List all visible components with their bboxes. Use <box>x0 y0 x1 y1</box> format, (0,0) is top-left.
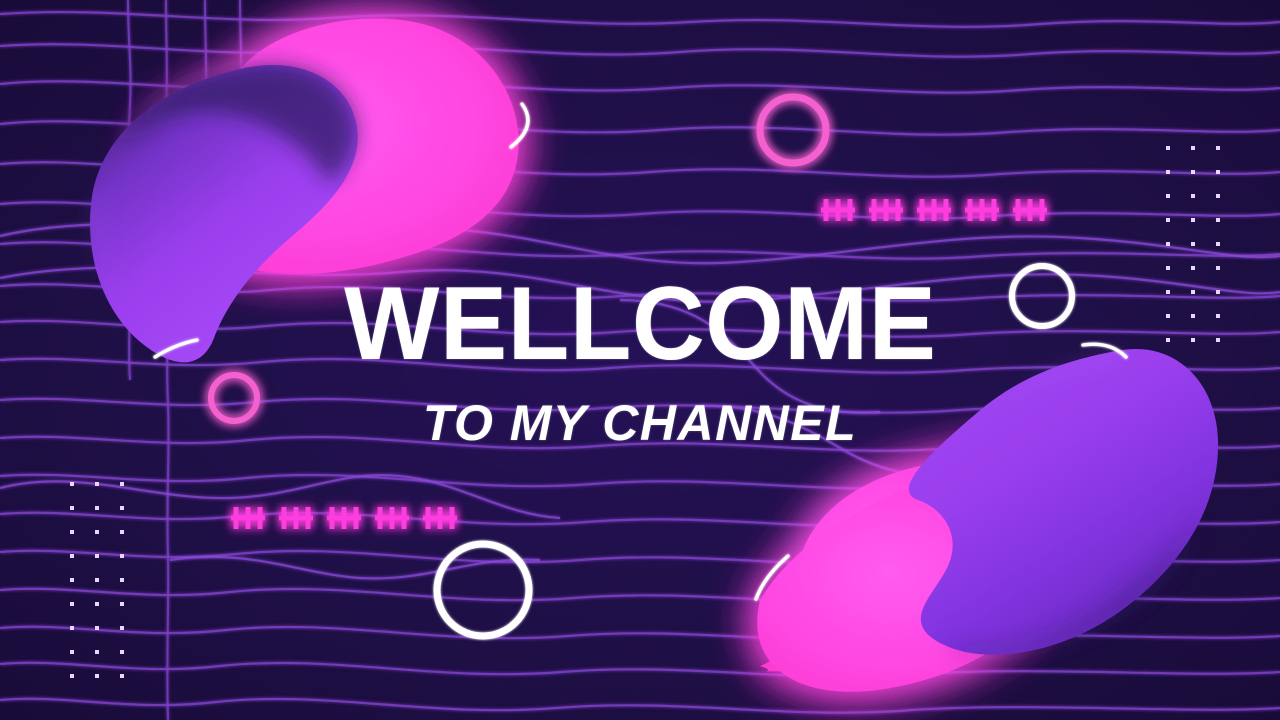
pink-circle-top-right <box>760 97 826 163</box>
tally-row-top-right <box>821 199 1047 221</box>
arc-accent-bottom <box>756 556 788 599</box>
white-circle-bottom <box>437 544 529 636</box>
dot-grid-left <box>70 482 124 678</box>
decorative-overlay <box>0 0 1280 720</box>
pink-circle-left <box>211 375 257 421</box>
tally-row-bottom-left <box>231 507 457 529</box>
arc-accents <box>155 104 1126 599</box>
arc-accent-mid-left <box>155 340 197 357</box>
welcome-banner: WELLCOME TO MY CHANNEL <box>0 0 1280 720</box>
arc-accent-top-left <box>511 104 528 147</box>
arc-accent-right <box>1083 344 1126 357</box>
dot-grid-right <box>1166 146 1220 342</box>
white-circle-right <box>1012 266 1072 326</box>
